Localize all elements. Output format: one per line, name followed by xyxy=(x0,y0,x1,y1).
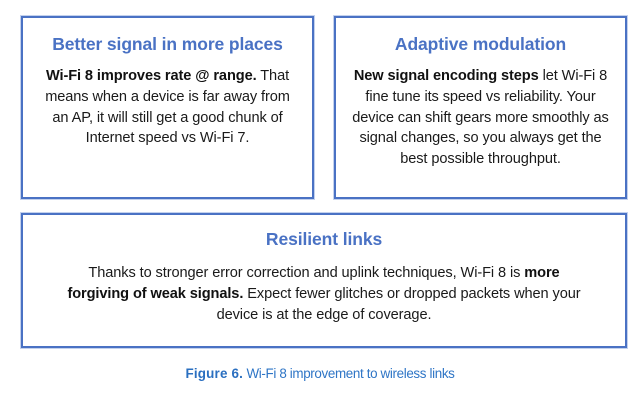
card-adaptive-modulation-title: Adaptive modulation xyxy=(395,34,566,54)
figure-caption: Figure 6. Wi-Fi 8 improvement to wireles… xyxy=(0,366,640,381)
figure-caption-text: Wi-Fi 8 improvement to wireless links xyxy=(246,366,454,381)
card-better-signal-title: Better signal in more places xyxy=(52,34,283,54)
card-better-signal-body: Wi-Fi 8 improves rate @ range. That mean… xyxy=(37,66,298,149)
card-adaptive-modulation: Adaptive modulation New signal encoding … xyxy=(334,16,627,199)
card-better-signal: Better signal in more places Wi-Fi 8 imp… xyxy=(21,16,314,199)
figure-caption-label: Figure 6. xyxy=(185,366,243,381)
card-adaptive-modulation-body-bold: New signal encoding steps xyxy=(354,68,539,84)
card-resilient-links: Resilient links Thanks to stronger error… xyxy=(21,213,627,348)
card-adaptive-modulation-body: New signal encoding steps let Wi-Fi 8 fi… xyxy=(350,66,611,170)
card-resilient-links-body-rest: Expect fewer glitches or dropped packets… xyxy=(217,286,581,323)
card-resilient-links-title: Resilient links xyxy=(266,229,382,249)
card-better-signal-body-bold: Wi-Fi 8 improves rate @ range. xyxy=(46,68,257,84)
card-resilient-links-body: Thanks to stronger error correction and … xyxy=(64,263,584,326)
figure-canvas: Better signal in more places Wi-Fi 8 imp… xyxy=(0,0,640,415)
card-resilient-links-body-lead: Thanks to stronger error correction and … xyxy=(88,265,524,281)
